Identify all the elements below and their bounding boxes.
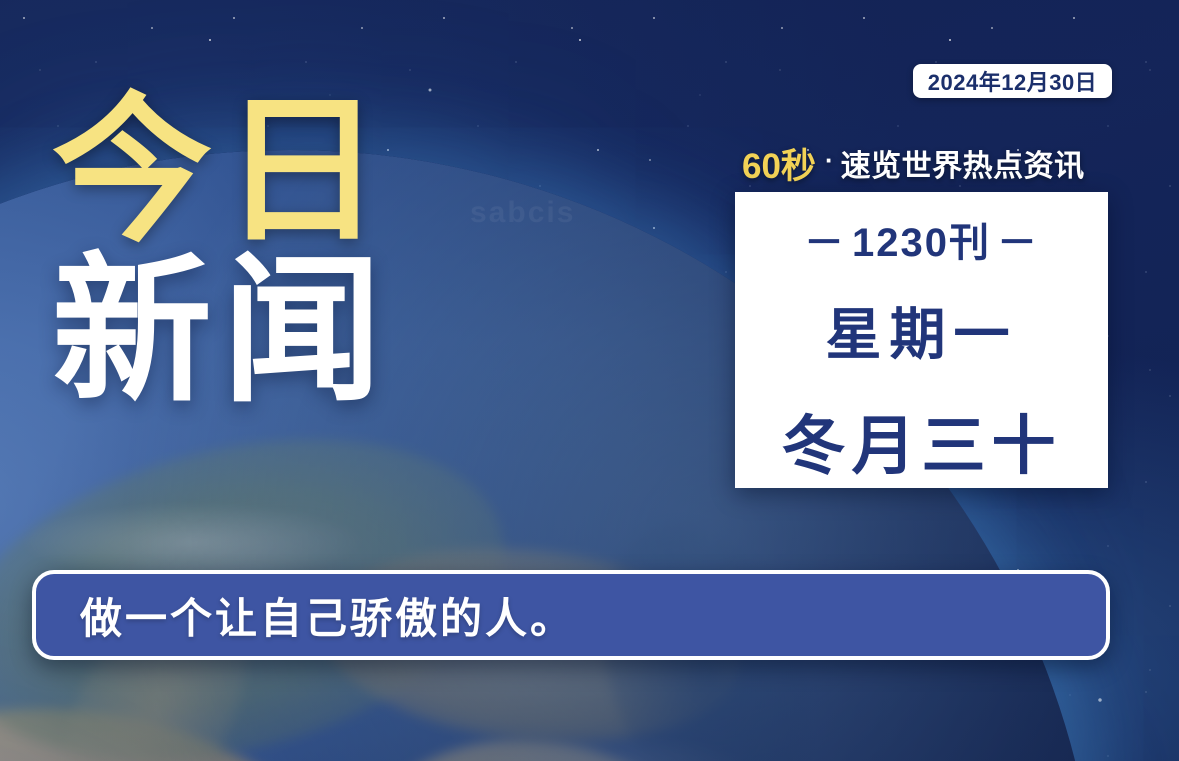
issue-number-row: －1230刊－ bbox=[798, 210, 1045, 268]
issue-info-card: －1230刊－ 星期一 冬月三十 bbox=[735, 192, 1108, 488]
tagline-separator-icon: · bbox=[825, 145, 834, 176]
date-badge-label: 2024年12月30日 bbox=[928, 65, 1097, 97]
tagline-duration: 60秒 bbox=[742, 138, 816, 189]
poster-title: 今日 新闻 bbox=[52, 96, 392, 407]
lunar-date-label: 冬月三十 bbox=[782, 395, 1062, 487]
quote-banner: 做一个让自己骄傲的人。 bbox=[32, 570, 1110, 660]
issue-dash-right: － bbox=[991, 221, 1045, 265]
date-badge: 2024年12月30日 bbox=[913, 64, 1112, 98]
issue-number: 1230刊 bbox=[852, 221, 991, 265]
news-poster: sabcis 今日 新闻 2024年12月30日 60秒 · 速览世界热点资讯 … bbox=[0, 0, 1179, 761]
issue-dash-left: － bbox=[798, 221, 852, 265]
tagline-description: 速览世界热点资讯 bbox=[841, 141, 1085, 185]
weekday-label: 星期一 bbox=[826, 290, 1018, 371]
title-line-today: 今日 bbox=[52, 96, 392, 246]
title-line-news: 新闻 bbox=[52, 256, 392, 406]
quote-text: 做一个让自己骄傲的人。 bbox=[80, 585, 575, 646]
tagline: 60秒 · 速览世界热点资讯 bbox=[742, 142, 1112, 184]
